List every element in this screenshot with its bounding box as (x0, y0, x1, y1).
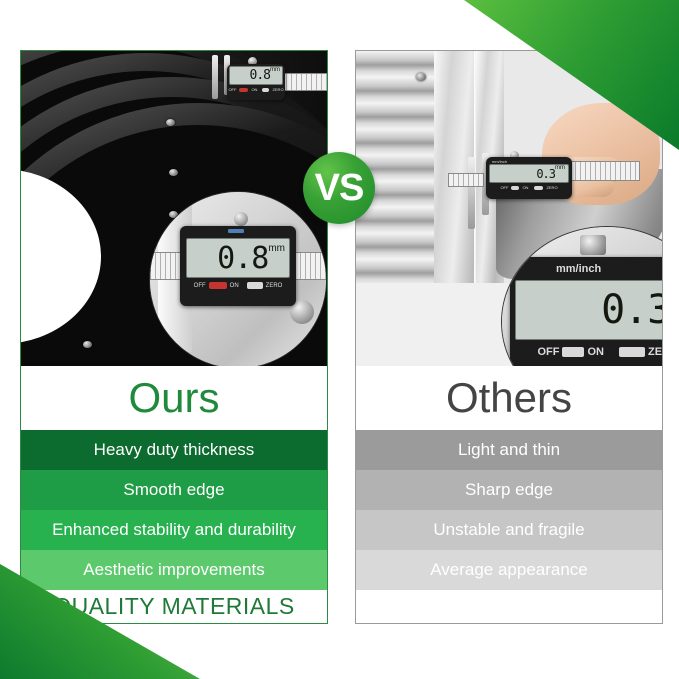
ours-row-4-label: Aesthetic improvements (83, 560, 264, 580)
ours-magnifier-bubble: 0.8mm OFF ON ZERO (149, 191, 327, 366)
caliper-jaw (468, 157, 475, 229)
vs-badge-label: VS (315, 167, 364, 210)
caliper-reading-value: 0.3 (601, 287, 662, 333)
others-panel: mm/inch 0.3mm OFF ON ZERO (355, 50, 663, 624)
ours-title: Ours (21, 366, 327, 430)
caliper-on-label: ON (522, 185, 528, 190)
caliper-power-switch[interactable] (209, 282, 227, 289)
rivet (166, 119, 175, 126)
caliper-zero-label: ZERO (546, 185, 557, 190)
caliper-jaw (212, 55, 218, 99)
ours-row-3-label: Enhanced stability and durability (52, 520, 296, 540)
caliper-zero-button[interactable] (262, 88, 269, 92)
rivet (169, 169, 178, 176)
photo-floor (356, 283, 516, 366)
ours-row-4: Aesthetic improvements (21, 550, 327, 590)
others-title: Others (356, 366, 662, 430)
caliper-thumb-knob (234, 212, 248, 226)
others-row-3: Unstable and fragile (356, 510, 662, 550)
ours-panel: 0.8mm OFF ON ZERO (20, 50, 328, 624)
others-row-4-label: Average appearance (430, 560, 588, 580)
caliper-zero-label: ZERO (272, 87, 283, 92)
caliper-scale-beam (448, 173, 484, 187)
others-row-2: Sharp edge (356, 470, 662, 510)
caliper-off-label: OFF (228, 87, 236, 92)
caliper-power-switch[interactable] (562, 347, 584, 357)
others-row-3-label: Unstable and fragile (433, 520, 584, 540)
caliper-mode-label: mm/inch (556, 263, 601, 275)
caliper-off-label: OFF (194, 283, 206, 289)
ours-row-2: Smooth edge (21, 470, 327, 510)
ours-row-1-label: Heavy duty thickness (94, 440, 255, 460)
caliper-zero-button[interactable] (247, 282, 263, 289)
caliper-on-label: ON (230, 283, 239, 289)
caliper-reading-unit: mm (555, 165, 565, 171)
caliper-scale-beam (570, 161, 640, 181)
caliper-off-label: OFF (500, 185, 508, 190)
ours-feature-rows: Heavy duty thickness Smooth edge Enhance… (21, 430, 327, 590)
others-row-4: Average appearance (356, 550, 662, 590)
comparison-infographic: 0.8mm OFF ON ZERO (0, 0, 679, 679)
ours-row-1: Heavy duty thickness (21, 430, 327, 470)
caliper-zero-label: ZERO (266, 283, 283, 289)
others-row-1: Light and thin (356, 430, 662, 470)
caliper-power-switch[interactable] (511, 186, 519, 190)
caliper-thumb-knob (580, 235, 606, 255)
caliper-on-label: ON (251, 87, 257, 92)
caliper-reading-value: 0.8 (217, 241, 268, 276)
others-footer (356, 590, 662, 623)
vs-badge: VS (303, 152, 375, 224)
ours-row-2-label: Smooth edge (123, 480, 224, 500)
caliper-zero-button[interactable] (619, 347, 645, 357)
ours-product-photo: 0.8mm OFF ON ZERO (21, 51, 327, 366)
caliper-reading-unit: mm (270, 67, 280, 73)
others-magnifier-bubble: mm/inch 0.3mm OFF ON ZERO (501, 226, 662, 366)
caliper-reading-value: 0.8 (250, 68, 270, 83)
caliper-top-left: 0.8mm OFF ON ZERO (199, 55, 327, 115)
others-row-1-label: Light and thin (458, 440, 560, 460)
others-row-2-label: Sharp edge (465, 480, 553, 500)
caliper-top-right: mm/inch 0.3mm OFF ON ZERO (448, 147, 638, 233)
caliper-reading-value: 0.3 (536, 167, 555, 181)
caliper-power-switch[interactable] (239, 88, 248, 92)
caliper-brand-strip (228, 229, 244, 233)
caliper-off-label: OFF (537, 346, 559, 358)
others-feature-rows: Light and thin Sharp edge Unstable and f… (356, 430, 662, 590)
caliper-on-label: ON (587, 346, 604, 358)
caliper-zero-label: ZERO (648, 346, 662, 358)
rivet (83, 341, 92, 348)
caliper-reading-unit: mm (268, 243, 285, 254)
ours-row-3: Enhanced stability and durability (21, 510, 327, 550)
caliper-zero-button[interactable] (534, 186, 543, 190)
rivet (416, 73, 426, 81)
